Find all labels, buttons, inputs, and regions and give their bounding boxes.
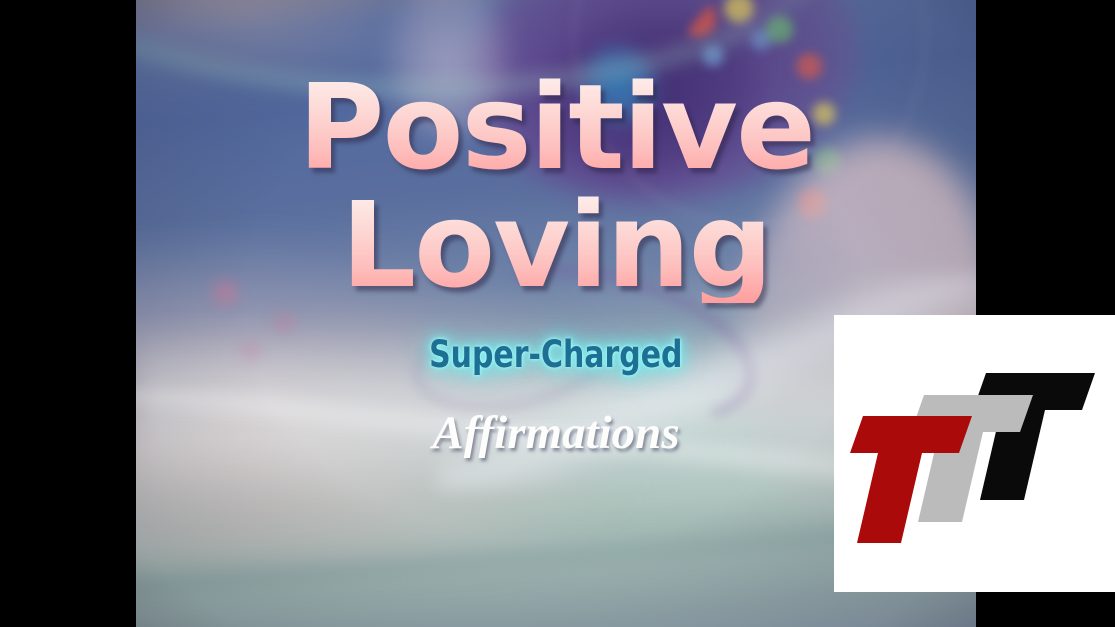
subtitle-super-charged: Super-Charged [429,333,682,376]
logo-letter-t-black [973,373,1095,500]
tagline-affirmations: Affirmations [432,406,679,460]
video-player-stage: Positive Loving Super-Charged Affirmatio… [0,0,1115,627]
triple-t-logo[interactable] [834,315,1115,592]
title-line-2: Loving [341,188,771,304]
title-line-1: Positive [298,70,814,186]
